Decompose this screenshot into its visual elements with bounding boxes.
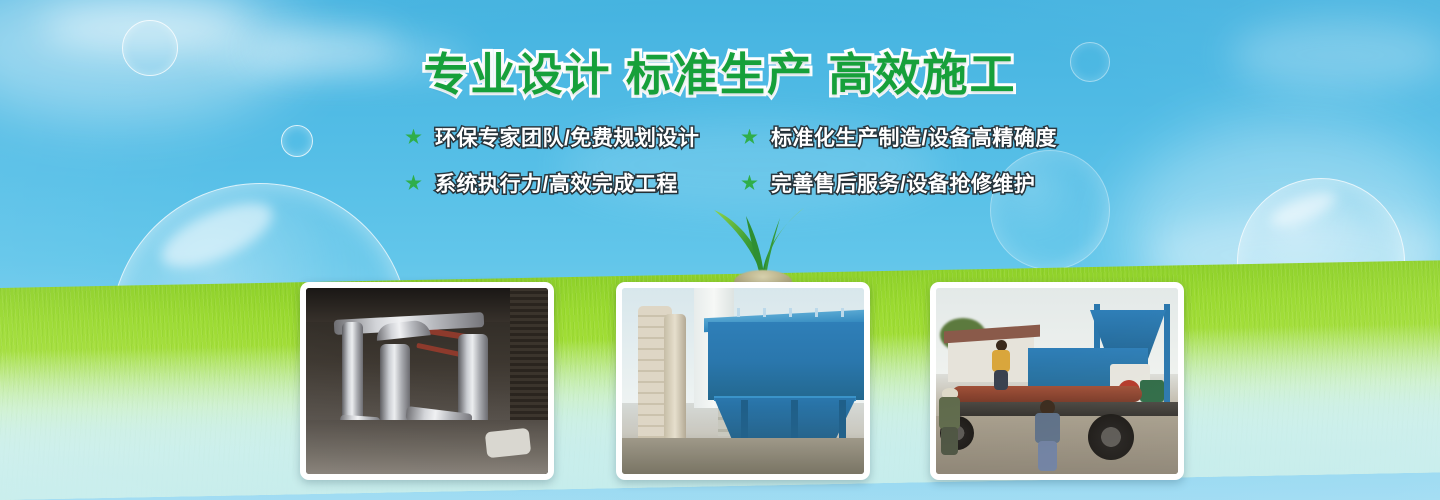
- feature-row-1: 环保专家团队/免费规划设计 标准化生产制造/设备高精确度: [405, 122, 1105, 152]
- photo-image: [306, 288, 548, 474]
- worker-legs: [941, 427, 958, 455]
- roof-pin: [815, 308, 818, 317]
- feature-list: 环保专家团队/免费规划设计 标准化生产制造/设备高精确度 系统执行力/高效完成工…: [405, 122, 1105, 214]
- feature-item-2: 标准化生产制造/设备高精确度: [741, 122, 1101, 152]
- ground: [622, 438, 864, 474]
- feature-item-1: 环保专家团队/免费规划设计: [405, 122, 741, 152]
- worker-on-truck: [990, 340, 1012, 388]
- roof-pin: [841, 308, 844, 317]
- star-icon: [741, 175, 758, 192]
- green-motor: [1140, 380, 1164, 402]
- bubble-gloss: [1266, 185, 1340, 233]
- feature-item-3: 系统执行力/高效完成工程: [405, 168, 741, 198]
- worker-torso: [1035, 413, 1060, 443]
- truck-wheel-rear: [1088, 414, 1134, 460]
- photo-equipment-delivery[interactable]: [930, 282, 1184, 480]
- star-icon: [405, 129, 422, 146]
- worker-torso: [939, 397, 960, 429]
- photo-image: [622, 288, 864, 474]
- stone-tower-second: [664, 314, 686, 452]
- feature-label: 系统执行力/高效完成工程: [435, 168, 678, 198]
- material-bag: [485, 428, 531, 458]
- worker-legs: [994, 370, 1008, 390]
- feature-row-2: 系统执行力/高效完成工程 完善售后服务/设备抢修维护: [405, 168, 1105, 198]
- bubble-gloss: [153, 190, 281, 281]
- frame-post: [1164, 304, 1170, 408]
- feature-label: 环保专家团队/免费规划设计: [435, 122, 699, 152]
- collector-body: [708, 322, 864, 400]
- roof-pin: [763, 308, 766, 317]
- worker-foreground: [1032, 400, 1062, 470]
- worker-torso: [992, 350, 1010, 372]
- star-icon: [405, 175, 422, 192]
- feature-label: 完善售后服务/设备抢修维护: [771, 168, 1035, 198]
- photo-gallery: [0, 282, 1440, 484]
- feature-label: 标准化生产制造/设备高精确度: [771, 122, 1057, 152]
- page-title: 专业设计 标准生产 高效施工: [0, 38, 1440, 103]
- star-icon: [741, 129, 758, 146]
- worker-legs: [1038, 441, 1057, 471]
- roof-pin: [737, 308, 740, 317]
- photo-industrial-ductwork[interactable]: [300, 282, 554, 480]
- roof-pin: [789, 308, 792, 317]
- worker-left: [938, 388, 962, 454]
- photo-dust-collector[interactable]: [616, 282, 870, 480]
- bubble-small-mid-left: [281, 125, 313, 157]
- photo-image: [936, 288, 1178, 474]
- promo-banner: 专业设计 标准生产 高效施工 环保专家团队/免费规划设计 标准化生产制造/设备高…: [0, 0, 1440, 500]
- feature-item-4: 完善售后服务/设备抢修维护: [741, 168, 1101, 198]
